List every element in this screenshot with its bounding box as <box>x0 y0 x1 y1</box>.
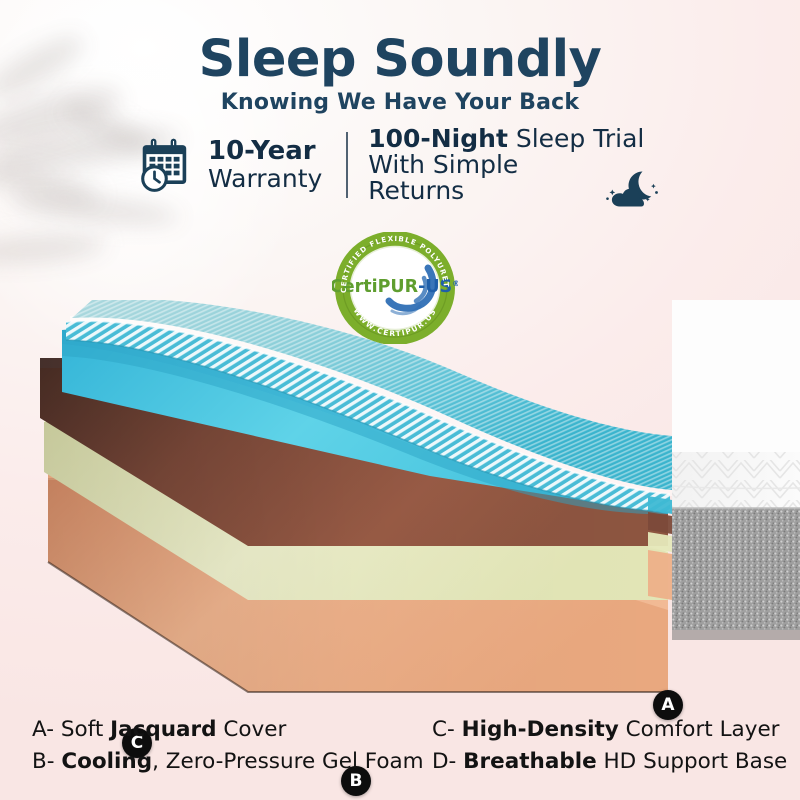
sleep-trial-line1-bold: 100-Night <box>368 124 508 153</box>
warranty-badge: 10-Year Warranty <box>140 136 344 194</box>
legend-item-b-bold: Cooling <box>61 749 152 774</box>
sleep-trial-line1-rest: Sleep Trial <box>508 124 644 153</box>
sleep-trial-badge: 100-Night Sleep Trial With Simple Return… <box>368 126 660 204</box>
legend-item-d-prefix: D- <box>432 749 463 774</box>
badge-divider <box>346 132 348 198</box>
legend-item-a-prefix: A- Soft <box>32 717 110 742</box>
legend-item-d-suffix: HD Support Base <box>597 749 788 774</box>
calendar-clock-icon <box>140 136 198 194</box>
page-title: Sleep Soundly <box>0 34 800 85</box>
infographic-canvas: Sleep Soundly Knowing We Have Your Back <box>0 0 800 800</box>
legend-item-b: B- Cooling, Zero-Pressure Gel Foam <box>32 746 424 778</box>
legend-item-d-bold: Breathable <box>463 749 597 774</box>
warranty-line1: 10-Year <box>208 138 322 165</box>
page-subtitle: Knowing We Have Your Back <box>0 90 800 115</box>
sleep-trial-text: 100-Night Sleep Trial With Simple Return… <box>368 126 660 204</box>
legend-item-a-bold: Jacquard <box>110 717 216 742</box>
legend: A- Soft Jacquard Cover B- Cooling, Zero-… <box>0 714 800 794</box>
legend-item-b-prefix: B- <box>32 749 61 774</box>
warranty-line2: Warranty <box>208 166 322 192</box>
svg-text:CertiPUR-US®: CertiPUR-US® <box>332 277 458 297</box>
legend-item-a: A- Soft Jacquard Cover <box>32 714 424 746</box>
legend-item-b-suffix: , Zero-Pressure Gel Foam <box>152 749 424 774</box>
moon-cloud-icon <box>604 168 660 210</box>
legend-item-d: D- Breathable HD Support Base <box>432 746 787 778</box>
warranty-text: 10-Year Warranty <box>208 138 322 191</box>
legend-column-left: A- Soft Jacquard Cover B- Cooling, Zero-… <box>32 714 424 778</box>
sleep-trial-line1: 100-Night Sleep Trial <box>368 126 660 152</box>
legend-item-a-suffix: Cover <box>217 717 287 742</box>
legend-item-c-prefix: C- <box>432 717 462 742</box>
legend-column-right: C- High-Density Comfort Layer D- Breatha… <box>432 714 787 778</box>
trust-badges-row: 10-Year Warranty 100-Night Sleep Trial W… <box>140 128 660 202</box>
legend-item-c: C- High-Density Comfort Layer <box>432 714 787 746</box>
legend-item-c-bold: High-Density <box>462 717 619 742</box>
mattress-layers-illustration: A B C D <box>0 300 800 720</box>
sleep-trial-line2: With Simple Returns <box>368 152 604 204</box>
legend-item-c-suffix: Comfort Layer <box>619 717 780 742</box>
